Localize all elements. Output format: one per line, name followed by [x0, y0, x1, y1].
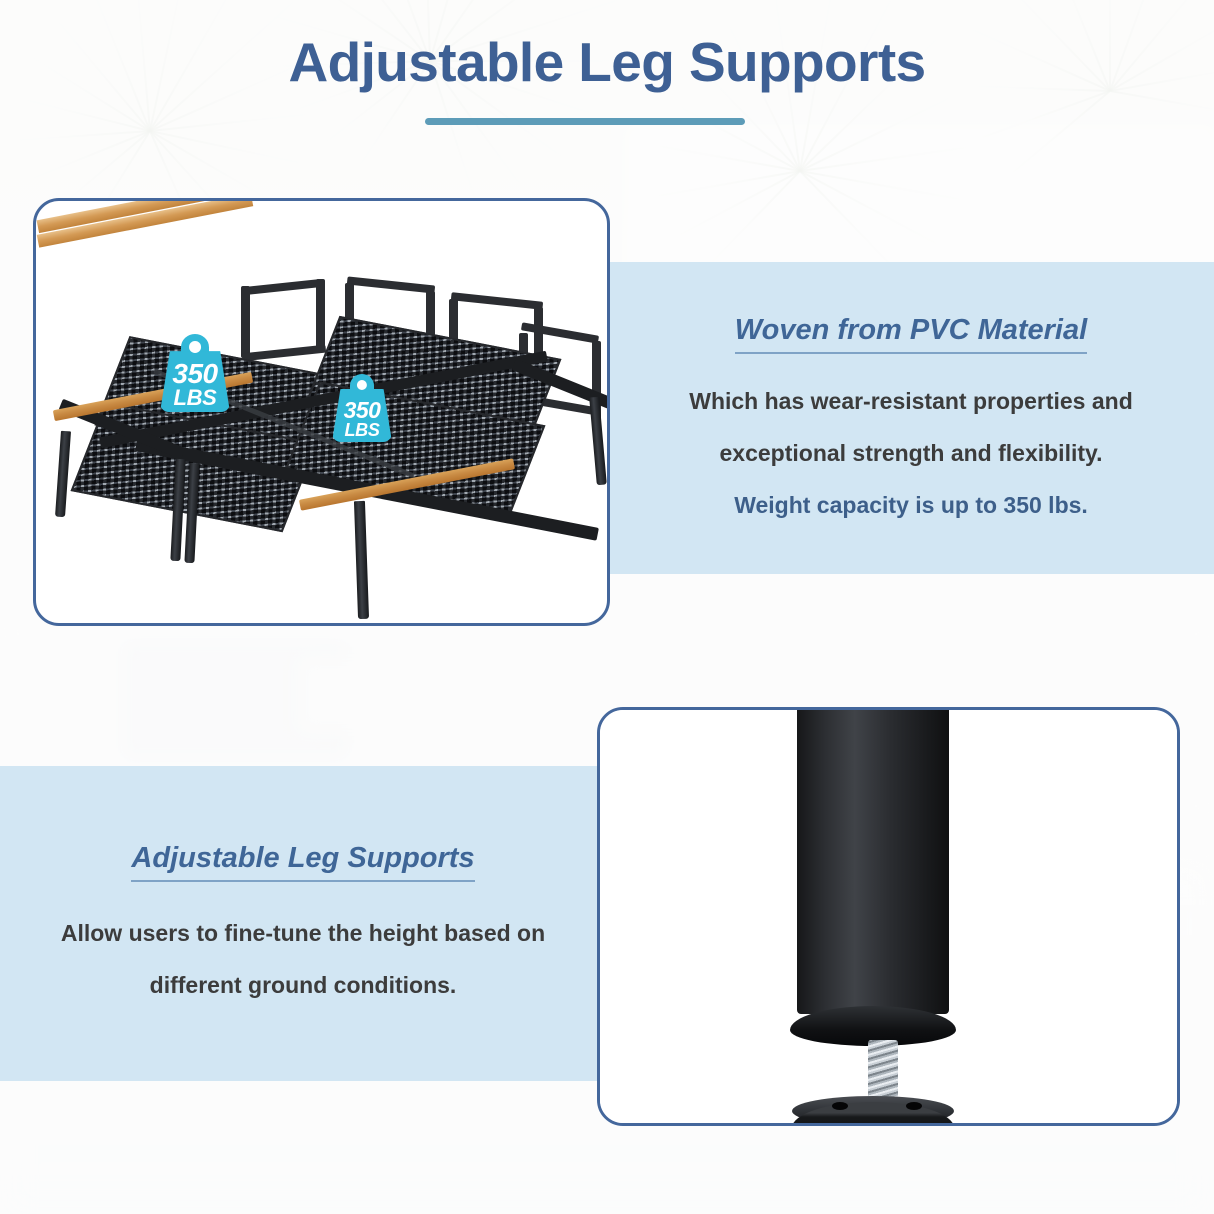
frame-leg-front-left [55, 431, 71, 517]
product-photo-card-leg-closeup [597, 707, 1180, 1126]
adjustable-leg-closeup-illustration [600, 710, 1177, 1123]
weight-badge-unit-right: LBS [332, 422, 392, 440]
feature-heading-pvc-text: Woven from PVC Material [735, 314, 1087, 354]
feature-line-pvc-2: exceptional strength and flexibility. [608, 442, 1214, 465]
weight-badge-hole-left [189, 341, 201, 353]
weight-badge-number-right: 350 [332, 399, 392, 422]
infographic-page: Adjustable Leg Supports Woven from PVC M… [0, 0, 1214, 1214]
leg-tube [797, 707, 949, 1014]
weight-badge-text-right: 350 LBS [332, 399, 392, 439]
weight-badge-text-left: 350 LBS [160, 360, 230, 409]
daybed-frame-illustration: 350 LBS 350 LBS [36, 201, 607, 623]
weight-badge-right: 350 LBS [332, 374, 392, 442]
frame-leg-back-right [589, 397, 607, 486]
weight-badge-unit-left: LBS [160, 387, 230, 409]
feature-panel-pvc-material: Woven from PVC Material Which has wear-r… [608, 262, 1214, 574]
title-underline-rule [425, 118, 745, 125]
page-title: Adjustable Leg Supports [0, 30, 1214, 94]
feature-heading-pvc: Woven from PVC Material [608, 314, 1214, 354]
leg-foot-hole-right [906, 1102, 922, 1110]
weight-badge-number-left: 350 [160, 360, 230, 387]
feature-heading-legs-text: Adjustable Leg Supports [131, 842, 474, 882]
feature-line-pvc-1: Which has wear-resistant properties and [608, 390, 1214, 413]
feature-line-legs-1: Allow users to fine-tune the height base… [0, 922, 606, 945]
leg-foot-hole-left [832, 1102, 848, 1110]
product-photo-card-frame: 350 LBS 350 LBS [33, 198, 610, 626]
frame-leg-front-center [354, 501, 369, 619]
weight-badge-left: 350 LBS [160, 334, 230, 412]
feature-heading-legs: Adjustable Leg Supports [0, 842, 606, 882]
feature-panel-adjustable-legs: Adjustable Leg Supports Allow users to f… [0, 766, 606, 1081]
feature-line-legs-2: different ground conditions. [0, 974, 606, 997]
feature-line-pvc-3: Weight capacity is up to 350 lbs. [608, 494, 1214, 517]
